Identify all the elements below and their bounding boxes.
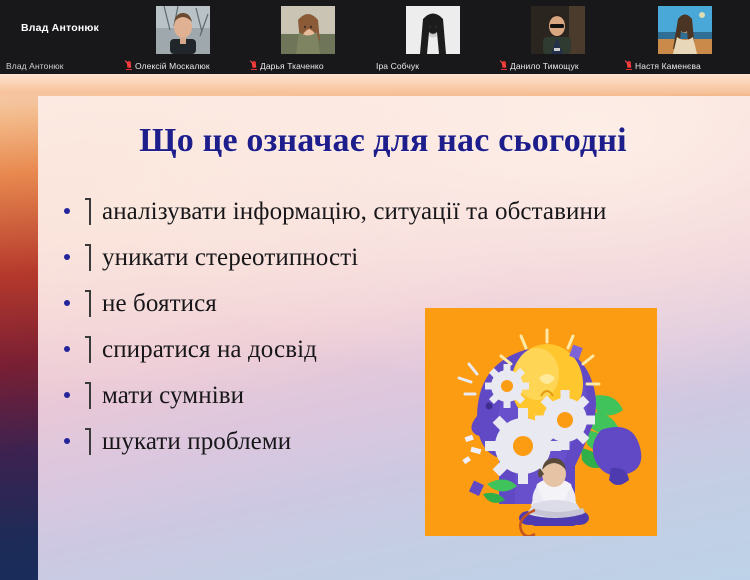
- mic-muted-icon: [626, 61, 632, 71]
- active-speaker-name: Влад Антонюк: [0, 0, 120, 56]
- participant-tile-active-speaker[interactable]: Влад Антонюк Влад Антонюк: [0, 0, 120, 74]
- mic-muted-icon: [501, 61, 507, 71]
- slide-canvas: Що це означає для нас сьогодні аналізува…: [38, 96, 750, 580]
- slide-title: Що це означає для нас сьогодні: [38, 122, 728, 160]
- bullet-text: аналізувати інформацію, ситуації та обст…: [102, 192, 606, 232]
- avatar: [531, 6, 585, 54]
- participant-namebar: Настя Каменєва: [620, 61, 750, 71]
- bracket-hook-icon: [80, 284, 102, 324]
- participant-tile-danylo[interactable]: Данило Тимощук: [495, 0, 620, 74]
- participant-name: Іра Собчук: [376, 61, 419, 71]
- bracket-hook-icon: [80, 238, 102, 278]
- participant-namebar: Данило Тимощук: [495, 61, 620, 71]
- bullet-dot-icon: [54, 330, 80, 352]
- bullet-dot-icon: [54, 284, 80, 306]
- participant-name: Олексій Москалюк: [135, 61, 210, 71]
- mic-muted-icon: [126, 61, 132, 71]
- bullet-dot-icon: [54, 238, 80, 260]
- participant-name: Данило Тимощук: [510, 61, 579, 71]
- bracket-hook-icon: [80, 422, 102, 462]
- participant-namebar: Іра Собчук: [370, 61, 495, 71]
- bracket-hook-icon: [80, 330, 102, 370]
- participant-name: Дарья Ткаченко: [260, 61, 324, 71]
- participant-tile-oleksii[interactable]: Олексій Москалюк: [120, 0, 245, 74]
- avatar: [281, 6, 335, 54]
- bullet-text: не боятися: [102, 284, 217, 324]
- participant-tile-ira[interactable]: Іра Собчук: [370, 0, 495, 74]
- bracket-hook-icon: [80, 192, 102, 232]
- list-item: аналізувати інформацію, ситуації та обст…: [54, 192, 724, 238]
- avatar: [156, 6, 210, 54]
- bullet-dot-icon: [54, 192, 80, 214]
- list-item: уникати стереотипності: [54, 238, 724, 284]
- mic-muted-icon: [251, 61, 257, 71]
- participant-filmstrip: Влад Антонюк Влад Антонюк Оле: [0, 0, 750, 74]
- bullet-text: спиратися на досвід: [102, 330, 317, 370]
- participant-namebar: Олексій Москалюк: [120, 61, 245, 71]
- participant-tile-daria[interactable]: Дарья Ткаченко: [245, 0, 370, 74]
- avatar: [406, 6, 460, 54]
- participant-tile-nastia[interactable]: Настя Каменєва: [620, 0, 750, 74]
- participant-namebar: Влад Антонюк: [0, 61, 120, 71]
- zoom-meeting-window: Влад Антонюк Влад Антонюк Оле: [0, 0, 750, 580]
- avatar: [658, 6, 712, 54]
- participant-name: Настя Каменєва: [635, 61, 701, 71]
- participant-name: Влад Антонюк: [6, 61, 64, 71]
- bullet-text: уникати стереотипності: [102, 238, 358, 278]
- bullet-text: шукати проблеми: [102, 422, 291, 462]
- participant-namebar: Дарья Ткаченко: [245, 61, 370, 71]
- bullet-text: мати сумніви: [102, 376, 244, 416]
- bullet-dot-icon: [54, 376, 80, 398]
- brain-idea-illustration: [425, 308, 657, 536]
- bullet-dot-icon: [54, 422, 80, 444]
- bracket-hook-icon: [80, 376, 102, 416]
- shared-screen-slide[interactable]: Що це означає для нас сьогодні аналізува…: [0, 74, 750, 580]
